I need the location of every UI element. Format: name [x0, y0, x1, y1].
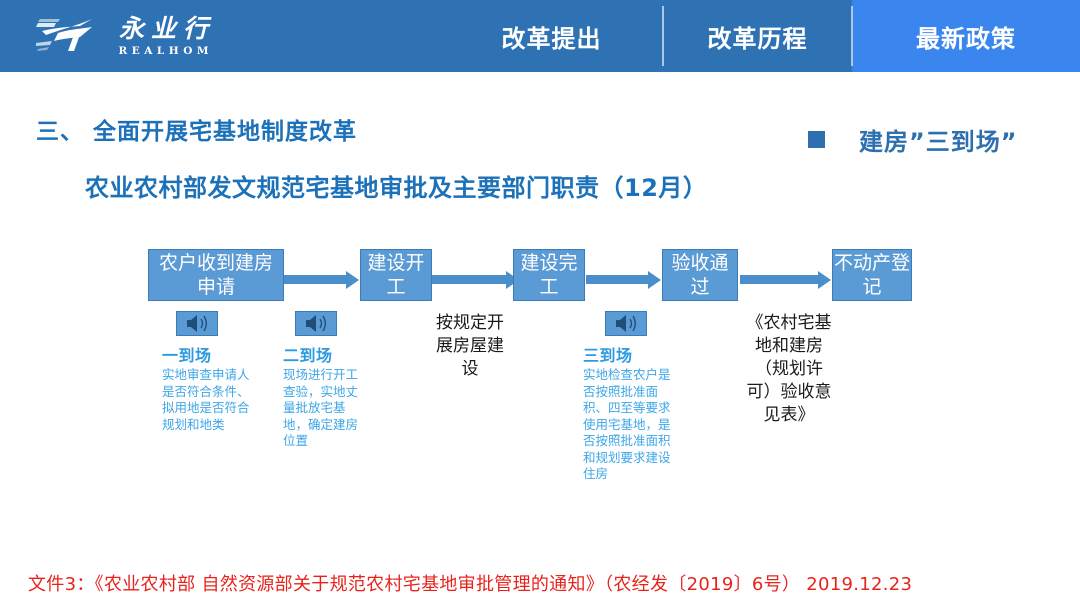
flow-node-acceptance-passed[interactable]: 验收通过 — [662, 249, 738, 301]
note-acceptance-form: 《农村宅基地和建房（规划许可）验收意见表》 — [744, 312, 834, 427]
arrow-head-3 — [648, 271, 661, 289]
connector-2 — [432, 275, 506, 284]
footer-reference: 文件3：《农业农村部 自然资源部关于规范农村宅基地审批管理的通知》（农经发〔20… — [28, 570, 1058, 596]
flow-node-start-construction[interactable]: 建设开工 — [360, 249, 432, 301]
connector-3 — [586, 275, 648, 284]
flow-node-property-registration[interactable]: 不动产登记 — [832, 249, 912, 301]
flow-node-finish-construction[interactable]: 建设完工 — [513, 249, 585, 301]
speaker-icon-3[interactable] — [605, 311, 647, 336]
annotation-body-1: 实地审查申请人是否符合条件、拟用地是否符合规划和地类 — [162, 367, 254, 433]
annotation-third-visit: 三到场 实地检查农户是否按照批准面积、四至等要求使用宅基地，是否按照批准面积和规… — [583, 342, 671, 483]
arrow-head-4 — [818, 271, 831, 289]
annotation-title-1: 一到场 — [162, 342, 254, 366]
annotation-second-visit: 二到场 现场进行开工查验，实地丈量批放宅基地，确定建房位置 — [283, 342, 359, 450]
annotation-body-2: 现场进行开工查验，实地丈量批放宅基地，确定建房位置 — [283, 367, 359, 450]
process-flow-diagram: 农户收到建房申请 建设开工 建设完工 验收通过 不动产登记 一到场 实地审查申请… — [0, 0, 1080, 608]
connector-4 — [740, 275, 818, 284]
flow-node-application[interactable]: 农户收到建房申请 — [148, 249, 284, 301]
arrow-head-1 — [346, 271, 359, 289]
annotation-body-3: 实地检查农户是否按照批准面积、四至等要求使用宅基地，是否按照批准面积和规划要求建… — [583, 367, 671, 483]
speaker-icon-2[interactable] — [295, 311, 337, 336]
connector-1 — [284, 275, 346, 284]
note-construction: 按规定开展房屋建设 — [434, 312, 506, 381]
annotation-title-3: 三到场 — [583, 342, 671, 366]
annotation-title-2: 二到场 — [283, 342, 359, 366]
annotation-first-visit: 一到场 实地审查申请人是否符合条件、拟用地是否符合规划和地类 — [162, 342, 254, 433]
speaker-icon-1[interactable] — [176, 311, 218, 336]
